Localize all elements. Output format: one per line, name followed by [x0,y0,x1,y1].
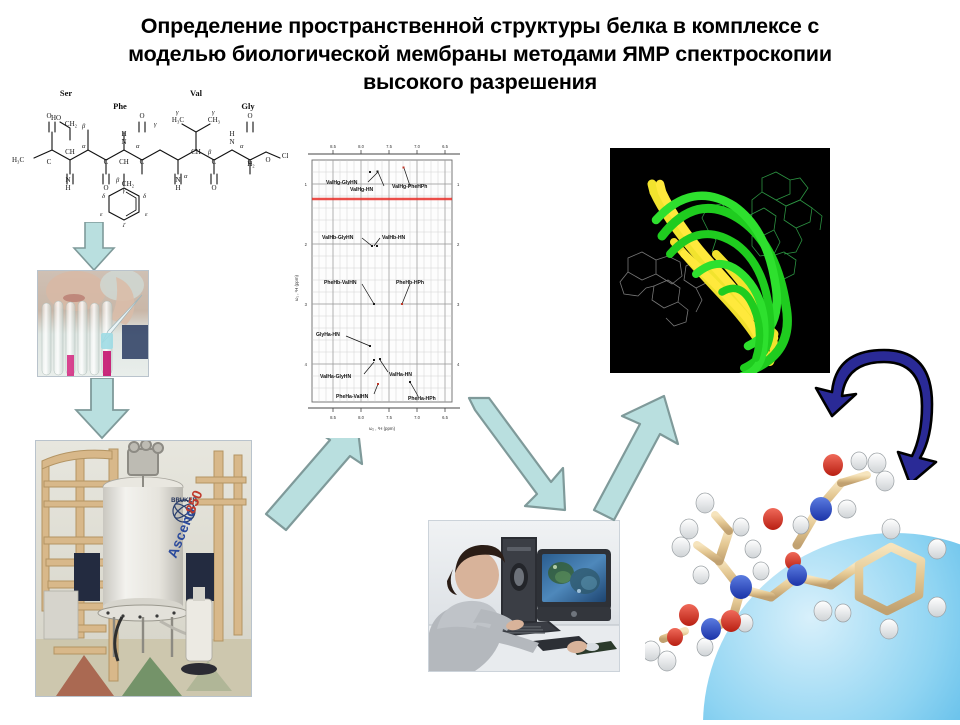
scientist-at-computer-workstation-photo [428,520,620,672]
svg-text:β: β [207,149,212,156]
svg-text:C: C [47,158,52,166]
x-tick-top-4: 6.5 [442,144,448,149]
x-tick-top-0: 8.5 [330,144,336,149]
svg-text:CH₃: CH₃ [208,116,221,124]
svg-text:H: H [229,130,234,138]
svg-text:γ: γ [176,109,179,116]
peak-label-4: ValHb-HN [382,235,406,241]
svg-text:C: C [140,158,145,166]
peak-label-8: ValHa-GlyHN [320,374,351,380]
svg-text:H: H [175,184,180,192]
x-tick-bottom-0: 8.5 [330,415,336,420]
protein-structure-ensemble-photo [610,148,830,373]
svg-text:CH: CH [191,148,201,156]
svg-text:H₃C: H₃C [172,116,184,124]
peak-label-11: PheHa-HPh [408,396,436,402]
x-tick-bottom-4: 6.5 [442,415,448,420]
x-tick-bottom-2: 7.5 [386,415,392,420]
svg-text:O: O [211,184,216,192]
svg-text:HO: HO [51,114,61,122]
svg-text:ε: ε [145,211,148,218]
peak-label-7: GlyHa-HN [316,332,340,338]
x-tick-bottom-3: 7.0 [414,415,420,420]
x-tick-top-3: 7.0 [414,144,420,149]
arrow-spectrum-to-workstation [455,396,595,531]
residue-label-gly: Gly [241,101,255,111]
svg-text:O: O [139,112,144,120]
svg-text:O: O [103,184,108,192]
svg-text:H: H [121,130,126,138]
svg-text:δ: δ [143,193,147,200]
nmr-noesy-spectrum-chart: 8.5 8.0 7.5 7.0 6.5 8.5 8.0 7.5 7.0 6.5 … [288,138,468,438]
arrow-structure-to-synthesis [72,222,116,272]
residue-label-val: Val [190,88,203,98]
scientist-pipetting-test-tubes-photo [37,270,149,377]
peak-label-2: ValHg-PheHPh [392,184,427,190]
peptide-on-micelle-surface-model [645,425,960,720]
svg-text:N: N [175,176,180,184]
spectrum-y-axis-label: ω₁ , ¹H (ppm) [294,275,299,301]
svg-text:CH₂: CH₂ [65,120,78,128]
residue-label-ser: Ser [60,88,73,98]
svg-text:CH: CH [65,148,75,156]
svg-text:O: O [247,112,252,120]
svg-text:CH: CH [119,158,129,166]
svg-text:γ: γ [212,109,215,116]
svg-text:N: N [229,138,234,146]
svg-text:β: β [115,177,120,184]
svg-text:ζ: ζ [123,222,126,227]
svg-text:γ: γ [123,187,126,194]
svg-text:δ: δ [102,193,106,200]
x-tick-top-1: 8.0 [358,144,364,149]
peak-label-5: PheHb-ValHN [324,280,357,286]
arrow-synthesis-to-spectrometer [74,378,130,440]
svg-text:C: C [248,158,253,166]
peak-label-10: PheHa-ValHN [336,394,369,400]
residue-label-phe: Phe [113,101,127,111]
svg-text:N: N [65,176,70,184]
bruker-ascend-850-nmr-magnet-photo: BRUKER Ascend 850 [35,440,252,697]
svg-text:C: C [104,158,109,166]
atom-label-terminal-methyl: H₃C [12,156,24,164]
peak-label-3: ValHb-GlyHN [322,235,354,241]
peak-label-1: ValHg-HN [350,187,374,193]
title-line-2: моделью биологической мембраны методами … [20,40,940,68]
svg-text:α: α [240,143,244,150]
svg-text:β: β [81,123,86,130]
svg-text:γ: γ [154,121,157,128]
spectrum-x-axis-label: ω₂ , ¹H (ppm) [369,426,396,431]
x-tick-top-2: 7.5 [386,144,392,149]
svg-text:C: C [212,158,217,166]
x-tick-bottom-1: 8.0 [358,415,364,420]
svg-text:α: α [184,173,188,180]
svg-text:α: α [82,143,86,150]
peak-label-6: PheHb-HPh [396,280,424,286]
svg-text:α: α [136,143,140,150]
svg-text:O: O [265,156,270,164]
slide-canvas: Определение пространственной структуры б… [0,0,960,720]
title-line-1: Определение пространственной структуры б… [20,12,940,40]
svg-text:ε: ε [100,211,103,218]
peptide-structure-diagram: Ser Phe Val Gly H₃C C O N H CH HO CH₂ C … [8,82,308,227]
peak-label-0: ValHg-GlyHN [326,180,358,186]
svg-text:N: N [121,138,126,146]
svg-text:H: H [65,184,70,192]
peak-label-9: ValHa-HN [389,372,412,378]
